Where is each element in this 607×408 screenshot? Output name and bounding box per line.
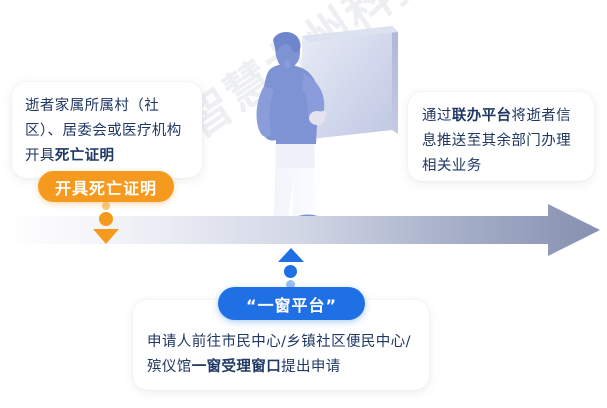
pill-issue-death-certificate[interactable]: 开具死亡证明 — [38, 171, 174, 202]
step-card-left-text: 逝者家属所属村（社区）、居委会或医疗机构开具死亡证明 — [25, 94, 189, 169]
person-head — [273, 32, 301, 68]
pill-orange-label: 开具死亡证明 — [55, 175, 157, 199]
bottom-body-plain-2: 提出申请 — [281, 359, 341, 375]
step-card-left: 逝者家属所属村（社区）、居委会或医疗机构开具死亡证明 — [12, 82, 202, 178]
connector-dot-large — [99, 212, 113, 226]
step-card-bottom-text: 申请人前往市民中心/乡镇社区便民中心/殡仪馆一窗受理窗口提出申请 — [147, 330, 417, 380]
connector-arrow-up-icon — [278, 248, 304, 262]
diagram-canvas: 成都智慧九州科技有限公司 — [0, 0, 607, 408]
pill-blue-label: “一窗平台” — [246, 292, 337, 316]
step-card-right-text: 通过联办平台将逝者信息推送至其余部门办理相关业务 — [422, 104, 580, 179]
connector-dot-small — [102, 202, 110, 210]
connector-dot-large — [284, 265, 297, 278]
bottom-body-bold: 一窗受理窗口 — [192, 359, 281, 375]
orange-connector — [93, 202, 119, 248]
left-body-bold: 死亡证明 — [55, 148, 115, 164]
blue-connector — [278, 248, 304, 290]
connector-arrow-down-icon — [93, 229, 119, 244]
step-card-right: 通过联办平台将逝者信息推送至其余部门办理相关业务 — [408, 92, 594, 181]
right-body-plain-1: 通过 — [422, 108, 452, 124]
pill-one-window-platform[interactable]: “一窗平台” — [218, 287, 365, 320]
right-body-bold: 联办平台 — [452, 108, 512, 124]
